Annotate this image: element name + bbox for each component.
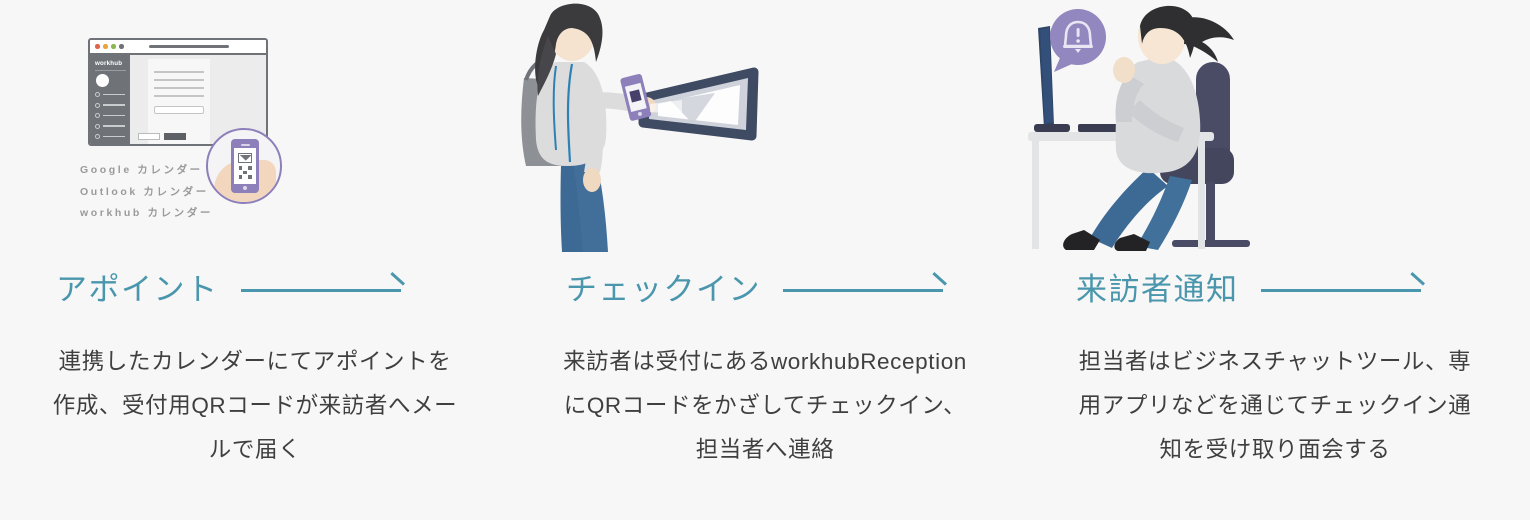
- primary-button: [164, 133, 186, 140]
- arrow-head: [932, 272, 947, 286]
- step-column-checkin: チェックイン 来訪者は受付にあるworkhubReceptionにQRコードをか…: [510, 0, 1020, 520]
- form-buttons: [138, 133, 186, 140]
- qr-cell: [248, 166, 252, 170]
- workhub-logo: workhub: [95, 60, 126, 71]
- checkin-illustration: [510, 0, 1020, 258]
- long-arrow-right-icon: [1261, 283, 1426, 295]
- step-heading: チェックイン: [566, 274, 761, 305]
- secondary-button: [138, 133, 160, 140]
- menu-line: [103, 94, 125, 95]
- qr-cell: [239, 171, 243, 175]
- qr-cell: [248, 171, 252, 175]
- browser-titlebar: [90, 40, 266, 55]
- browser-sidebar: workhub: [90, 55, 130, 146]
- visitor-scanning-qr-svg: [510, 0, 1020, 258]
- menu-line: [103, 104, 125, 105]
- text-line: [154, 87, 204, 89]
- smartphone-illustration: [231, 139, 259, 193]
- sidebar-menu-row: [95, 92, 126, 97]
- envelope-icon: [238, 153, 252, 163]
- qr-cell: [239, 166, 243, 170]
- text-line: [154, 95, 204, 97]
- bullet-icon: [95, 113, 100, 118]
- menu-line: [103, 125, 125, 126]
- browser-url-bar: [149, 45, 229, 48]
- bullet-icon: [95, 103, 100, 108]
- menu-line: [103, 115, 125, 116]
- qr-cell: [248, 175, 252, 179]
- calendar-integration-list: Google カレンダー Outlook カレンダー workhub カレンダー: [80, 160, 213, 225]
- heading-row-visitor-notification: 来訪者通知: [1020, 258, 1530, 320]
- notification-bell-bubble-icon: [1050, 9, 1106, 72]
- form-input-placeholder: [154, 106, 204, 114]
- browser-dot-yellow: [103, 44, 108, 49]
- step-body-text: 来訪者は受付にあるworkhubReceptionにQRコードをかざしてチェック…: [560, 340, 970, 472]
- step-column-visitor-notification: 来訪者通知 担当者はビジネスチャットツール、専用アプリなどを通じてチェックイン通…: [1020, 0, 1530, 520]
- sidebar-menu-row: [95, 134, 126, 139]
- staff-at-desk-svg: [1020, 0, 1530, 258]
- step-column-appointment: workhub: [0, 0, 510, 520]
- avatar: [96, 74, 109, 87]
- heading-row-checkin: チェックイン: [510, 258, 1020, 320]
- arrow-head: [390, 272, 405, 286]
- phone-home-button: [243, 186, 247, 190]
- three-step-flow-board: workhub: [0, 0, 1530, 520]
- qr-cell: [243, 175, 247, 179]
- smartphone-icon: [620, 73, 652, 121]
- qr-email-phone-badge: [206, 128, 282, 204]
- bullet-icon: [95, 124, 100, 129]
- calendar-label-outlook: Outlook カレンダー: [80, 182, 213, 204]
- qr-code-icon: [239, 166, 252, 179]
- arrow-head: [1410, 272, 1425, 286]
- long-arrow-right-icon: [241, 283, 406, 295]
- browser-dot-green: [111, 44, 116, 49]
- browser-dot-gray: [119, 44, 124, 49]
- calendar-label-google: Google カレンダー: [80, 160, 213, 182]
- sidebar-menu-row: [95, 124, 126, 129]
- text-line: [154, 71, 204, 73]
- bullet-icon: [95, 134, 100, 139]
- heading-row-appointment: アポイント: [0, 258, 510, 320]
- text-line: [154, 79, 204, 81]
- qr-cell: [239, 175, 243, 179]
- arrow-shaft: [1261, 289, 1421, 292]
- visitor-notification-illustration: [1020, 0, 1530, 258]
- qr-cell: [243, 166, 247, 170]
- menu-line: [103, 136, 125, 137]
- arrow-shaft: [241, 289, 401, 292]
- sidebar-menu-row: [95, 113, 126, 118]
- step-heading: 来訪者通知: [1076, 274, 1239, 305]
- appointment-illustration: workhub: [0, 0, 510, 258]
- phone-screen: [234, 148, 256, 184]
- step-body-text: 担当者はビジネスチャットツール、専用アプリなどを通じてチェックイン通知を受け取り…: [1070, 340, 1480, 472]
- step-heading: アポイント: [56, 274, 219, 305]
- phone-speaker: [241, 144, 250, 146]
- calendar-label-workhub: workhub カレンダー: [80, 203, 213, 225]
- step-body-text: 連携したカレンダーにてアポイントを作成、受付用QRコードが来訪者へメールで届く: [50, 340, 460, 472]
- browser-dot-red: [95, 44, 100, 49]
- bullet-icon: [95, 92, 100, 97]
- qr-cell: [243, 171, 247, 175]
- sidebar-menu-row: [95, 103, 126, 108]
- long-arrow-right-icon: [783, 283, 948, 295]
- arrow-shaft: [783, 289, 943, 292]
